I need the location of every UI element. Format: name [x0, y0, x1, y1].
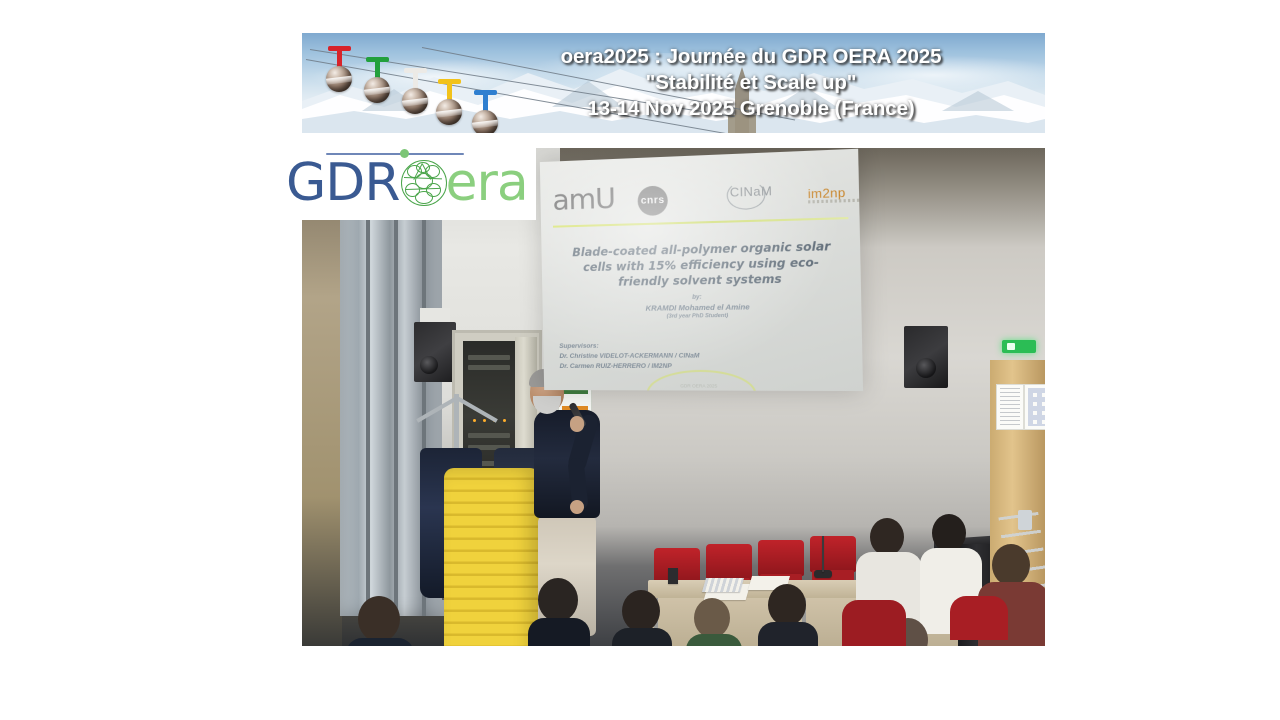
- gondola-green: [364, 77, 390, 103]
- banner-title: oera2025 : Journée du GDR OERA 2025 "Sta…: [471, 44, 1031, 122]
- gondola-yellow: [436, 99, 462, 125]
- yellow-jacket: [444, 468, 540, 646]
- page-root: oera2025 : Journée du GDR OERA 2025 "Sta…: [0, 0, 1280, 720]
- slide-supervisor-1: Dr. Christine VIDELOT-ACKERMANN / CINaM: [559, 351, 699, 362]
- slide-title: Blade-coated all-polymer organic solar c…: [559, 238, 845, 290]
- speaker-hand-mic: [570, 416, 584, 432]
- conference-room-photo: amU cnrs CINaM im2np Blade-coated all-po…: [302, 148, 1045, 646]
- door-notice-text: [996, 384, 1024, 430]
- table-handout-grid: [702, 578, 744, 592]
- slide-footer: GDR OERA 2025: [544, 383, 863, 389]
- slide-supervisors-block: Supervisors: Dr. Christine VIDELOT-ACKER…: [559, 341, 700, 372]
- im2np-logo: im2np: [808, 185, 846, 201]
- exit-sign-icon: [1002, 340, 1036, 353]
- speaker-hand-low: [570, 500, 584, 514]
- gondola-red: [326, 66, 352, 92]
- gondola-white: [402, 88, 428, 114]
- wall-speaker-right: [904, 326, 948, 388]
- projection-screen: amU cnrs CINaM im2np Blade-coated all-po…: [540, 149, 863, 391]
- fullerene-icon: [401, 160, 447, 206]
- banner-title-line2: "Stabilité et Scale up": [646, 71, 857, 94]
- chair-3: [758, 540, 804, 576]
- banner-title-line3: 13-14 Nov 2025 Grenoble (France): [587, 97, 914, 120]
- gdr-logo-era: era: [445, 153, 527, 213]
- slide-logo-row: amU cnrs CINaM im2np: [552, 170, 848, 223]
- chair-4: [810, 536, 856, 572]
- cnrs-logo: cnrs: [637, 185, 668, 216]
- amu-logo: amU: [552, 181, 615, 216]
- tablet-device: [668, 568, 678, 584]
- slide-supervisors-label: Supervisors:: [559, 341, 699, 352]
- gooseneck-microphone: [822, 536, 824, 572]
- chair-2: [706, 544, 752, 580]
- cinam-logo: CINaM: [730, 184, 773, 200]
- gdr-oera-logo: GDR era: [288, 140, 536, 220]
- door-notice-icons: [1024, 384, 1045, 430]
- banner-title-line1: oera2025 : Journée du GDR OERA 2025: [561, 45, 942, 68]
- gdr-logo-gdr: GDR: [286, 153, 399, 213]
- left-column: [302, 148, 342, 646]
- gdr-logo-text: GDR era: [288, 154, 536, 212]
- slide-supervisor-2: Dr. Carmen RUIZ-HERRERO / IM2NP: [560, 362, 700, 372]
- slide-author-block: by: KRAMDI Mohamed el Amine (3rd year Ph…: [542, 291, 861, 323]
- event-banner: oera2025 : Journée du GDR OERA 2025 "Sta…: [302, 33, 1045, 133]
- wall-speaker-left: [414, 322, 456, 382]
